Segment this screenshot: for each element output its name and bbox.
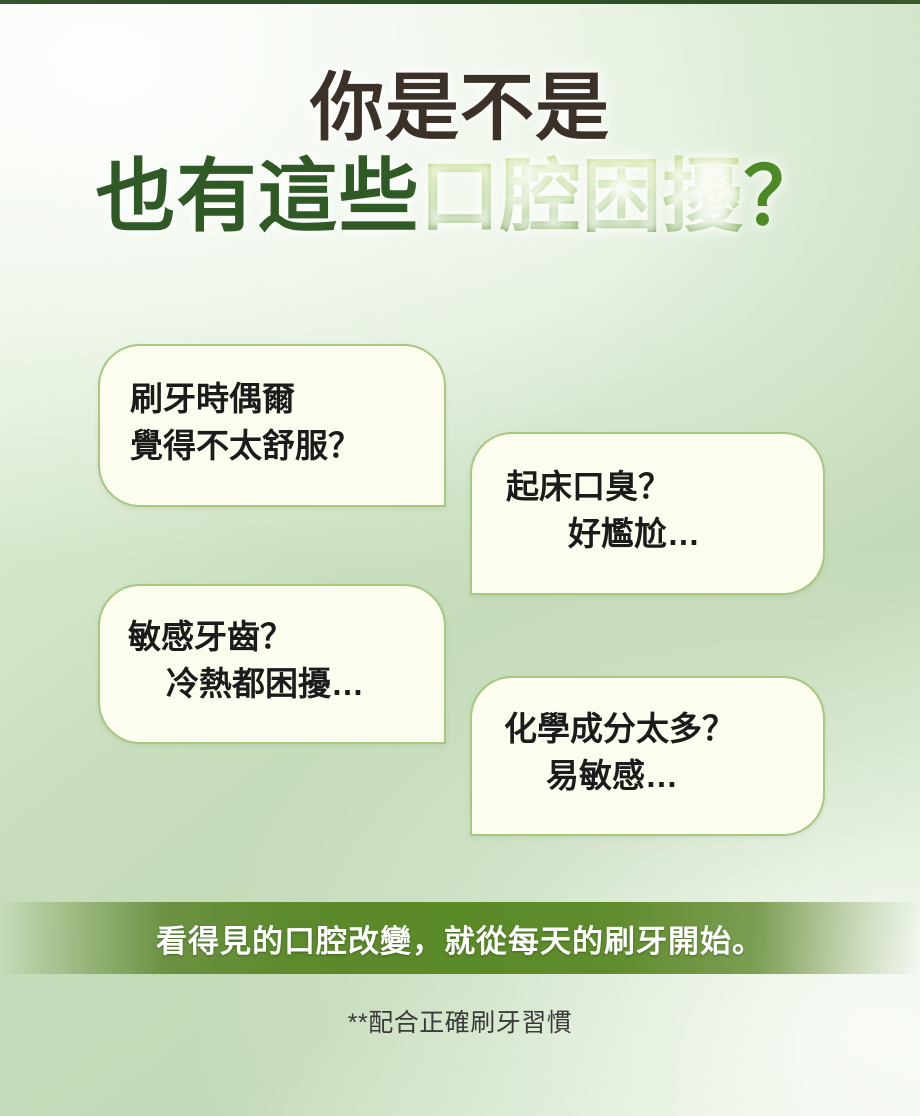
footnote-disclaimer: **配合正確刷牙習慣 bbox=[0, 1003, 920, 1039]
speech-bubble-sensitive-teeth: 敏感牙齒？ 冷熱都困擾… bbox=[98, 584, 446, 744]
speech-bubble-text: 化學成分太多？ 易敏感… bbox=[472, 678, 823, 800]
headline-line-1: 你是不是 bbox=[0, 72, 920, 146]
tagline-banner: 看得見的口腔改變，就從每天的刷牙開始。 bbox=[0, 902, 920, 974]
speech-bubble-text: 刷牙時偶爾 覺得不太舒服？ bbox=[100, 346, 444, 470]
speech-bubble-text: 起床口臭？ 好尷尬… bbox=[472, 434, 823, 558]
bubble-3-line-1: 敏感牙齒？ bbox=[128, 614, 444, 661]
bubble-2-line-1: 起床口臭？ bbox=[506, 464, 823, 511]
bubble-4-line-2: 易敏感… bbox=[504, 753, 823, 800]
bubble-1-line-1: 刷牙時偶爾 bbox=[130, 376, 444, 423]
tagline-text: 看得見的口腔改變，就從每天的刷牙開始。 bbox=[156, 916, 764, 961]
page-title: 你是不是 也有這些口腔困擾？ bbox=[0, 72, 920, 238]
speech-bubble-text: 敏感牙齒？ 冷熱都困擾… bbox=[100, 586, 444, 708]
bubble-3-line-2: 冷熱都困擾… bbox=[128, 661, 444, 708]
bubble-1-line-2: 覺得不太舒服？ bbox=[130, 423, 444, 470]
bubble-4-line-1: 化學成分太多？ bbox=[504, 706, 823, 753]
headline-line-2-prefix: 也有這些 bbox=[96, 154, 420, 242]
promo-poster: 你是不是 也有這些口腔困擾？ 刷牙時偶爾 覺得不太舒服？ 起床口臭？ 好尷尬… … bbox=[0, 0, 920, 1116]
headline-line-2: 也有這些口腔困擾？ bbox=[0, 158, 920, 238]
headline-question-mark: ？ bbox=[744, 154, 825, 242]
top-edge-strip bbox=[0, 0, 920, 4]
speech-bubble-morning-breath: 起床口臭？ 好尷尬… bbox=[470, 432, 825, 595]
speech-bubble-brushing-discomfort: 刷牙時偶爾 覺得不太舒服？ bbox=[98, 344, 446, 507]
speech-bubble-too-many-chemicals: 化學成分太多？ 易敏感… bbox=[470, 676, 825, 836]
bubble-2-line-2: 好尷尬… bbox=[506, 511, 823, 558]
headline-highlight: 口腔困擾 bbox=[420, 154, 744, 242]
